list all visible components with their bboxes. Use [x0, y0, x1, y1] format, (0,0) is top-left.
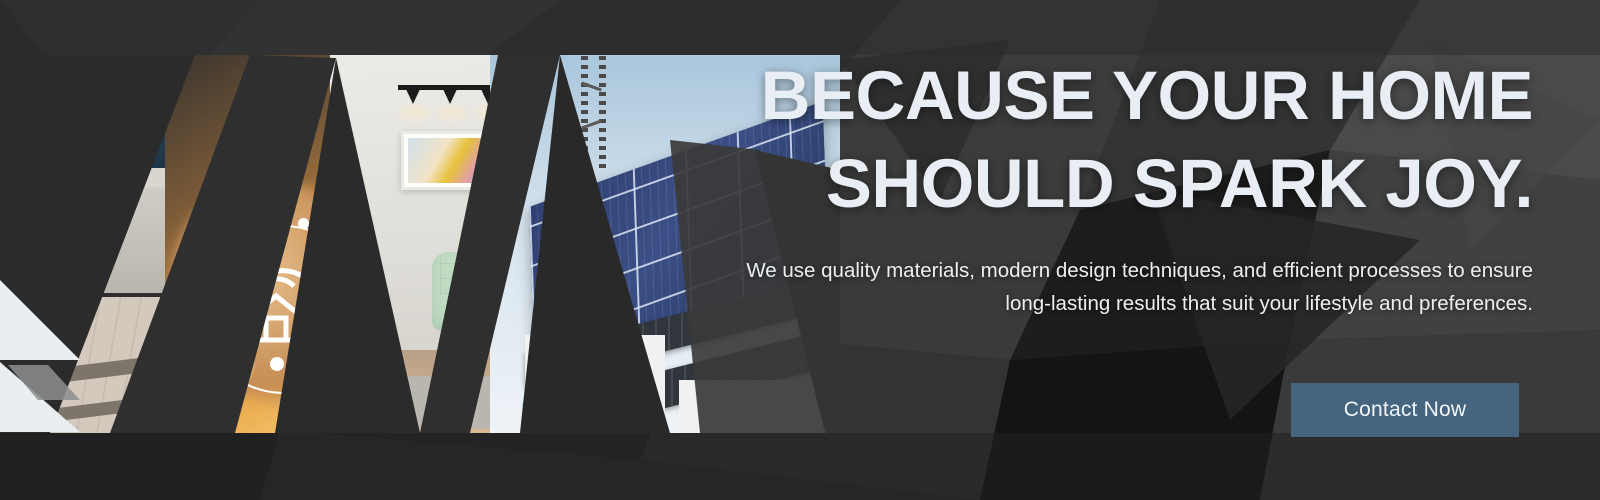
page-title: BECAUSE YOUR HOME SHOULD SPARK JOY.	[703, 52, 1533, 228]
copy-block: BECAUSE YOUR HOME SHOULD SPARK JOY. We u…	[703, 52, 1533, 320]
hero-banner: BECAUSE YOUR HOME SHOULD SPARK JOY. We u…	[0, 0, 1600, 500]
decorative-triangles	[0, 260, 160, 440]
headline-line-1: BECAUSE YOUR HOME	[761, 57, 1533, 134]
contact-now-button[interactable]: Contact Now	[1291, 383, 1519, 437]
headline-line-2: SHOULD SPARK JOY.	[826, 145, 1533, 222]
body-paragraph: We use quality materials, modern design …	[703, 254, 1533, 320]
